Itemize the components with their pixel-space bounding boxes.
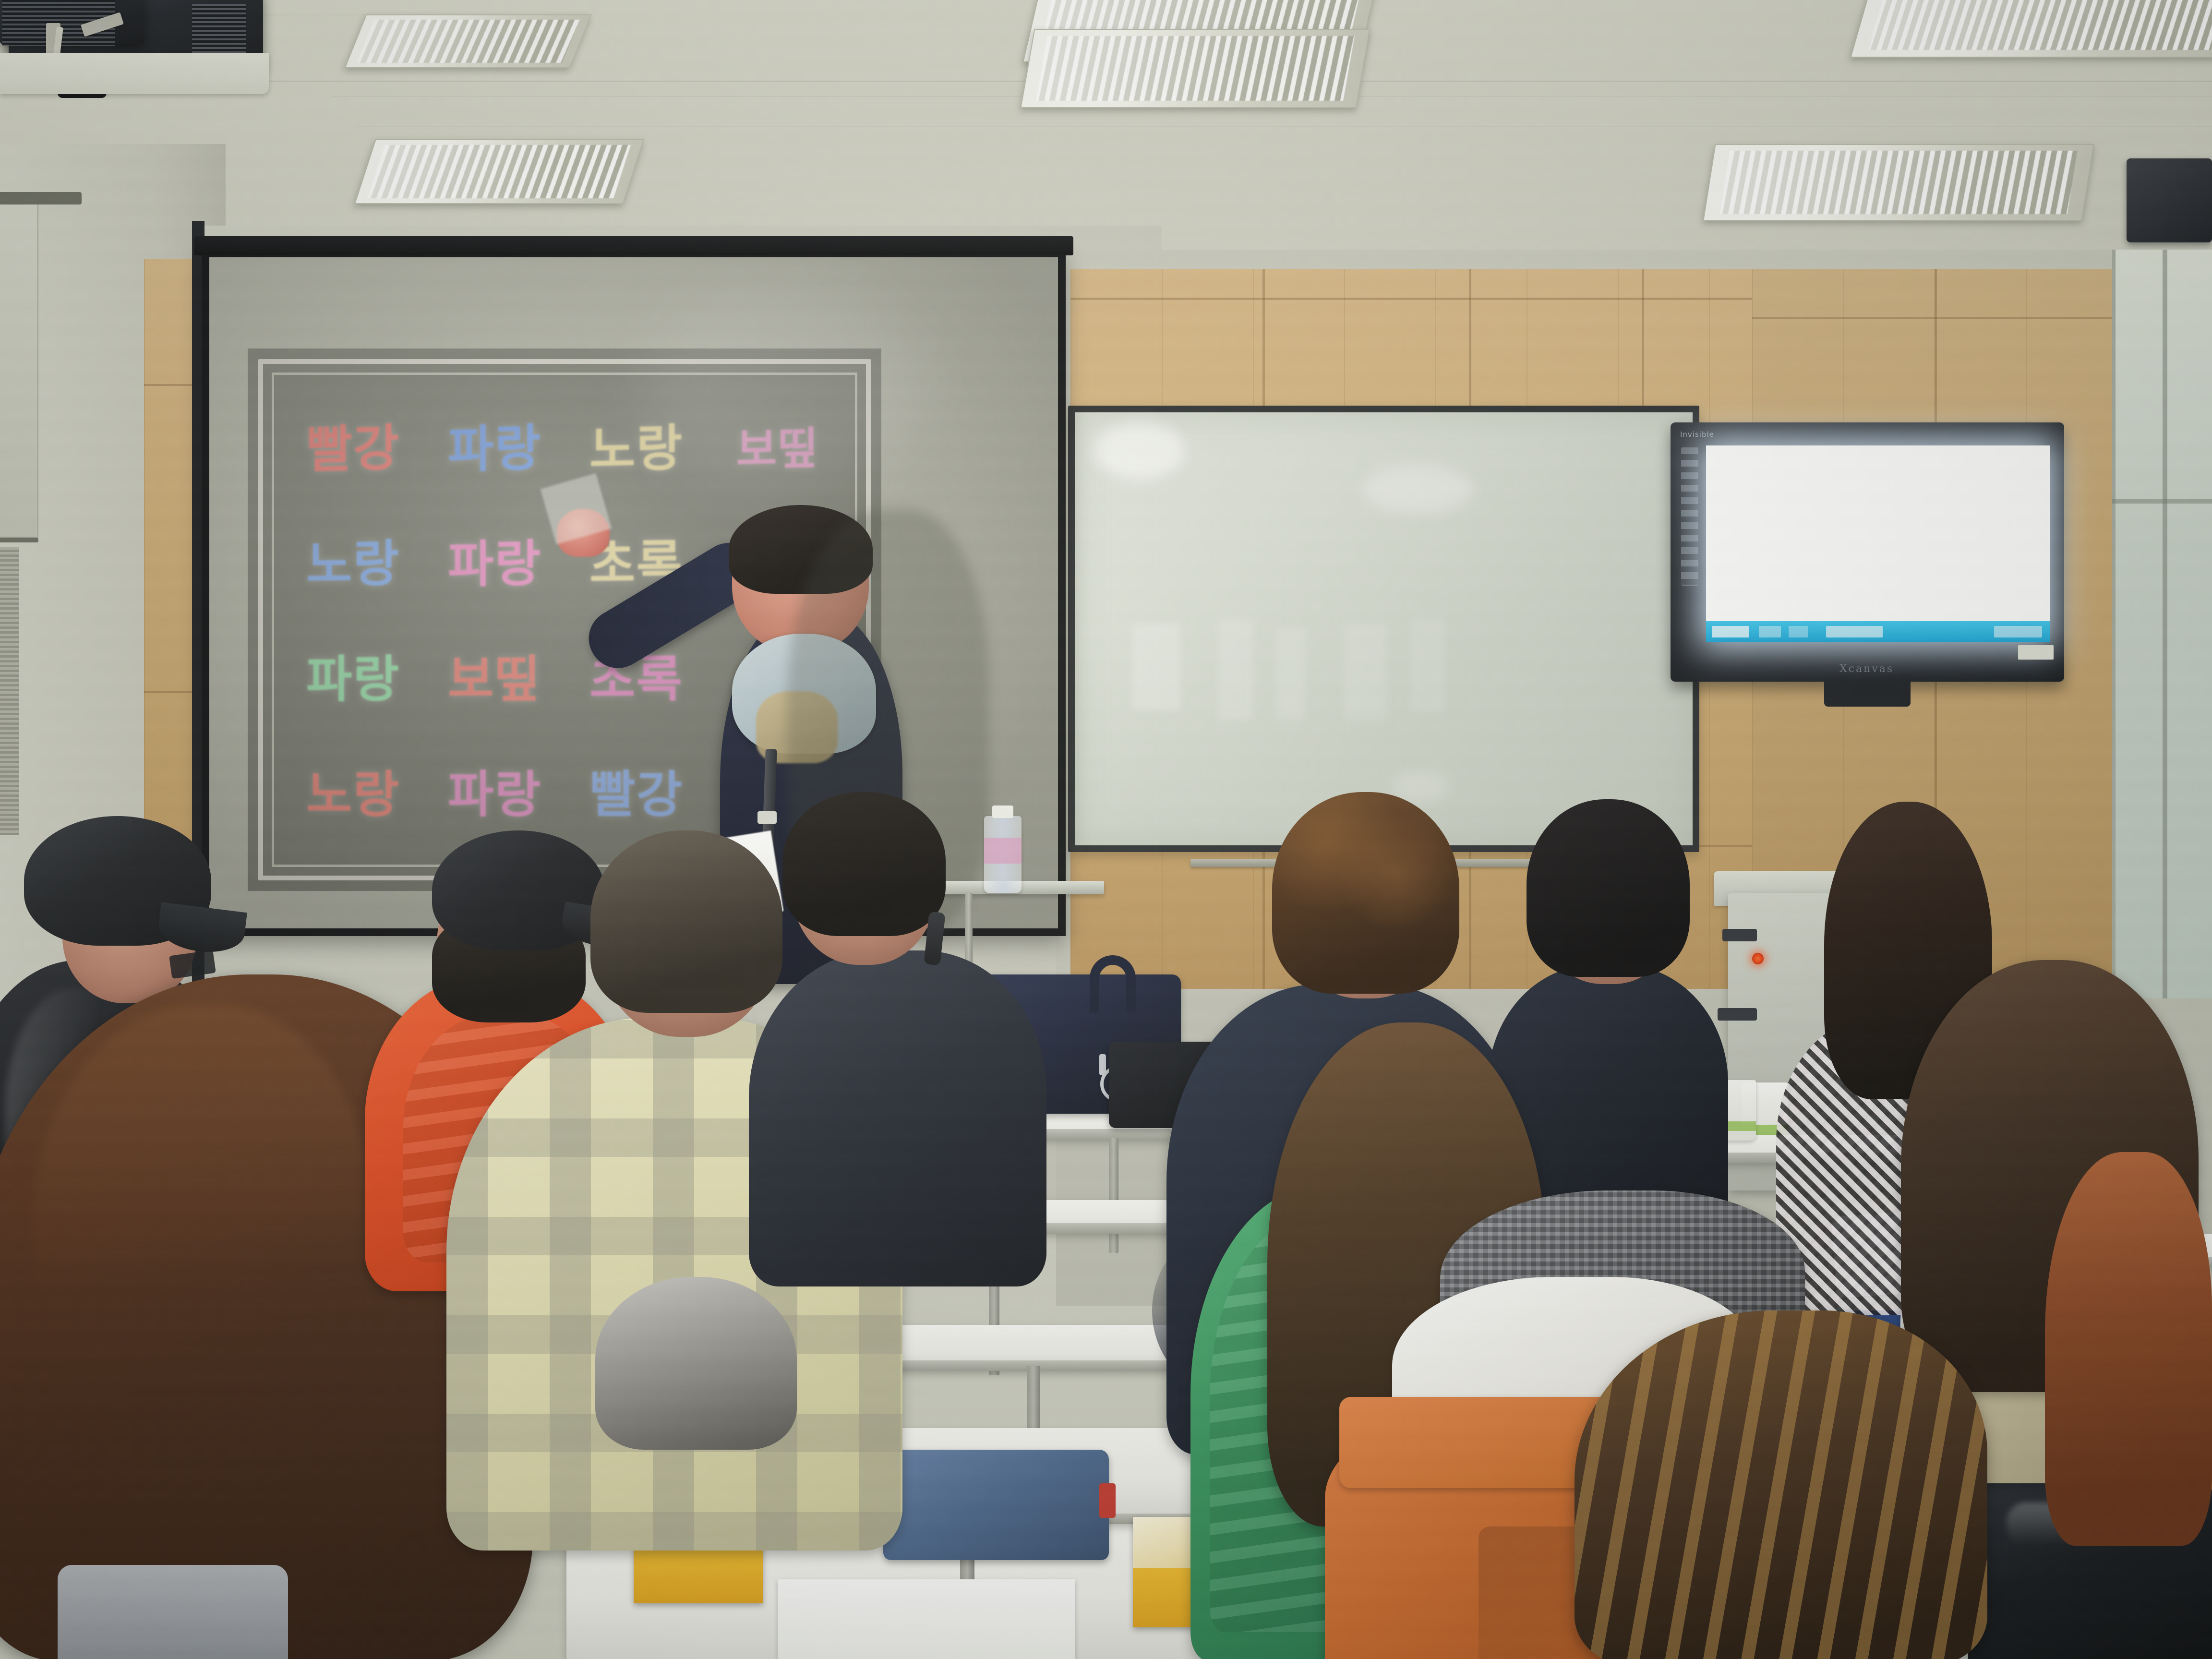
person-dark-jacket-body: [749, 950, 1046, 1286]
blind-headrail: [0, 192, 82, 204]
ceiling-light-fixture: [354, 139, 644, 204]
ceiling-seam: [355, 126, 2212, 127]
tv-side-buttons[interactable]: [1681, 447, 1698, 586]
stroop-word-r1-c2: 파랑: [424, 421, 565, 477]
projector-ceiling-plate: [0, 53, 269, 94]
paper-sheet[interactable]: [778, 1579, 1075, 1659]
stroop-word-r2-c2: 파랑: [424, 538, 565, 592]
wood-seam: [1070, 298, 1752, 300]
person-shoulders-gray: [58, 1565, 288, 1659]
window-glass-right: [2112, 250, 2212, 998]
person-hair: [782, 792, 946, 936]
lectern-handle[interactable]: [1718, 1008, 1757, 1021]
duffel-handle: [1090, 955, 1136, 1013]
tv-corner-logo: Invisible: [1680, 430, 1714, 439]
stroop-word-r3-c2: 보띺: [424, 653, 565, 706]
stroop-word-r4-c1: 노랑: [282, 769, 424, 822]
stroop-word-r4-c3: 빨강: [565, 769, 707, 822]
ceiling-speaker: [2127, 158, 2212, 242]
duffel-clasp: [1099, 1054, 1106, 1075]
ceiling-light-fixture: [344, 14, 591, 68]
person-auburn-hair-right: [2045, 1152, 2212, 1546]
whiteboard[interactable]: [1068, 406, 1699, 852]
lectern-handle[interactable]: [1722, 929, 1757, 941]
stroop-word-r1-c1: 빨강: [282, 421, 424, 477]
stroop-word-r2-c1: 노랑: [282, 538, 424, 592]
stroop-word-r1-c4: 보띺: [707, 425, 849, 474]
classroom-scene: Invisible Xcanvas 빨강파랑노랑보띺노랑파랑초록파랑보띺초록노랑…: [0, 0, 2212, 1659]
hair-sheen: [34, 1003, 370, 1435]
person-brown-hair: [1272, 792, 1459, 994]
person-hair-black: [1527, 799, 1690, 977]
person-gray-hair: [595, 1277, 797, 1450]
tv-wall-mount: [1824, 681, 1911, 707]
window-mullion: [2163, 250, 2167, 998]
water-bottle[interactable]: [984, 816, 1022, 893]
blue-pouch-bag[interactable]: [883, 1450, 1109, 1560]
desk-leg: [1109, 1138, 1118, 1253]
lectern-power-led: [1752, 953, 1764, 964]
wall-mounted-tv[interactable]: Invisible Xcanvas: [1671, 422, 2064, 682]
person-hair-gray: [590, 830, 782, 1013]
stroop-word-r1-c3: 노랑: [565, 421, 707, 477]
window-blind[interactable]: [0, 202, 38, 538]
window-mullion: [2112, 499, 2212, 504]
tv-sticker: [2018, 645, 2054, 660]
stroop-word-r4-c2: 파랑: [424, 769, 565, 822]
stroop-word-r3-c1: 파랑: [282, 653, 424, 706]
tv-brand-label: Xcanvas: [1839, 663, 1894, 675]
blind-bottom-bar[interactable]: [0, 538, 38, 542]
blind-slats: [0, 547, 19, 835]
ceiling-light-fixture: [1020, 29, 1370, 108]
screen-roller-housing: [194, 236, 1073, 255]
pouch-zip-pull: [1099, 1483, 1116, 1518]
ceiling-light-fixture: [1703, 144, 2094, 221]
tv-screen: [1706, 445, 2050, 642]
pointer-grip: [757, 811, 777, 824]
tv-taskbar: [1706, 621, 2050, 642]
ceiling-light-fixture: [1850, 0, 2212, 58]
